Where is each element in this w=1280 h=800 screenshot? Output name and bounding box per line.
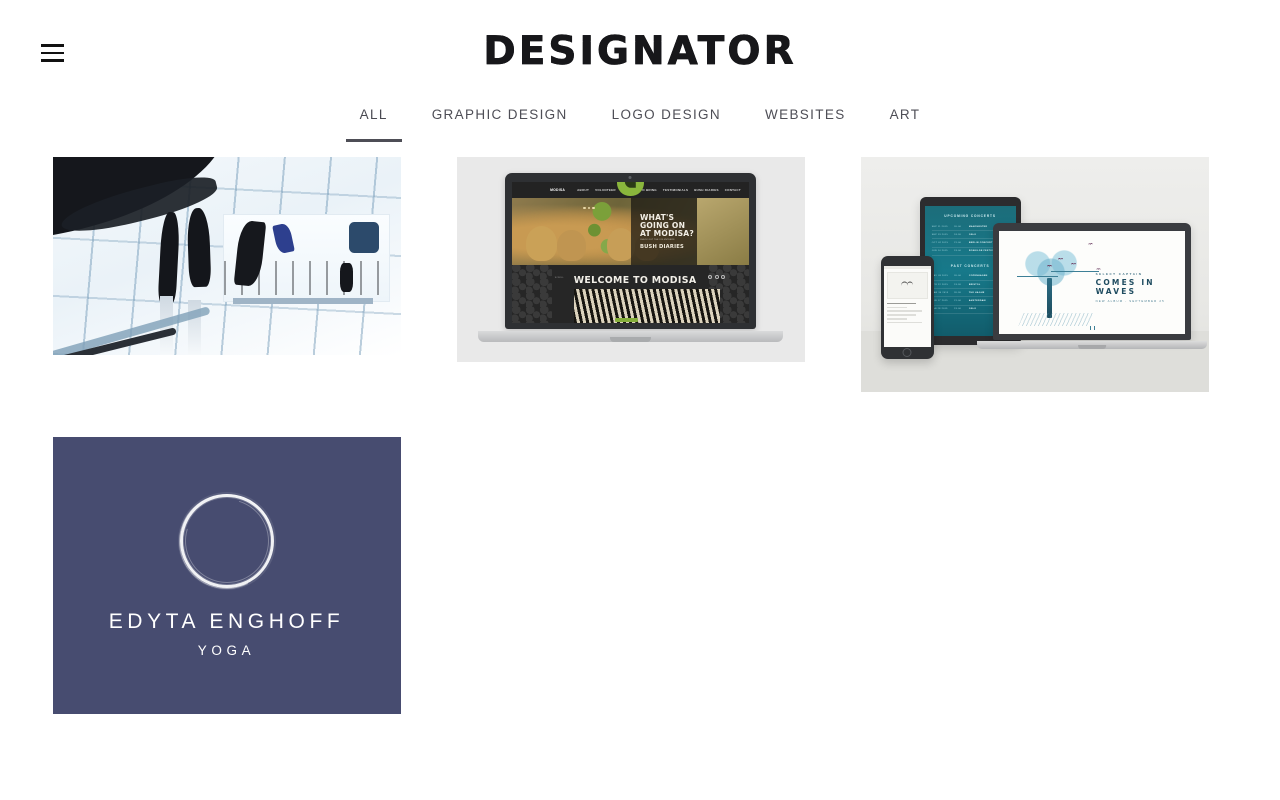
- concert-date: SEP 19 2015: [932, 234, 950, 236]
- brush-circle-icon: [180, 494, 274, 588]
- yoga-logo-artwork: EDYTA ENGHOFF YOGA: [53, 437, 401, 714]
- zebra-photo: [574, 289, 721, 324]
- tree-branch-left: [1017, 276, 1058, 277]
- phone-home-button: [903, 348, 912, 357]
- filter-tab-graphic-design[interactable]: GRAPHIC DESIGN: [410, 105, 590, 125]
- filter-tab-art[interactable]: ART: [868, 105, 943, 125]
- hero-side-image: [697, 198, 749, 266]
- phone-screen: [884, 266, 930, 347]
- leaf-icon: [625, 182, 635, 187]
- art-banner: [223, 214, 390, 301]
- banner-stand: [233, 298, 372, 304]
- portfolio-item-comes-in-waves[interactable]: UPCOMING CONCERTS SEP 11 2015 20:00 MANC…: [861, 157, 1209, 392]
- slider-dot-2: [588, 207, 591, 210]
- concert-time: 19:30: [954, 284, 965, 286]
- phone-album-art: [887, 272, 927, 299]
- concert-time: 20:00: [954, 275, 965, 277]
- lion-photo-1: [526, 226, 557, 261]
- banner-shape-navy: [349, 222, 379, 253]
- bird-icon-2: [1058, 258, 1063, 261]
- phone-status-bar: [884, 266, 930, 269]
- yoga-logo-name: EDYTA ENGHOFF: [109, 610, 345, 634]
- concert-time: 19:00: [954, 308, 965, 310]
- album-title: COMES IN WAVES: [1096, 278, 1185, 296]
- bird-icon: [901, 282, 913, 289]
- slider-dot-3: [592, 207, 595, 210]
- modisa-nav-brand: MODISA: [550, 188, 565, 192]
- modisa-hero-panel: WHAT'S GOING ON AT MODISA? CHECK OUT THE…: [631, 198, 697, 266]
- phone-text-line: [887, 322, 921, 324]
- portfolio-filter-nav: ALL GRAPHIC DESIGN LOGO DESIGN WEBSITES …: [0, 105, 1280, 150]
- modisa-nav-item-about: ABOUT: [577, 188, 589, 192]
- banner-flag-blue: [272, 223, 294, 255]
- site-logo-text: DESIGNATOR: [483, 30, 796, 74]
- social-icon-twitter: [715, 275, 719, 279]
- concert-date: JAN 28 2015: [932, 308, 950, 310]
- filter-tab-all[interactable]: ALL: [338, 105, 410, 125]
- modisa-nav-item-diaries: BUSH DIARIES: [694, 188, 719, 192]
- yoga-logo-tagline: YOGA: [198, 643, 255, 658]
- modisa-nav-item-contact: CONTACT: [725, 188, 741, 192]
- laptop-base-notch: [1078, 345, 1106, 349]
- portfolio-grid-row: EDYTA ENGHOFF YOGA: [53, 437, 1228, 714]
- portfolio-cell: [53, 157, 401, 392]
- bird-icon-5: [1096, 268, 1100, 270]
- laptop-lid: MODISA ABOUT VOLUNTEER THE BUSH TO BRING…: [505, 173, 756, 329]
- laptop-screen: MODISA ABOUT VOLUNTEER THE BUSH TO BRING…: [512, 182, 749, 323]
- filter-tab-websites[interactable]: WEBSITES: [743, 105, 868, 125]
- portfolio-item-modisa-website[interactable]: MODISA ABOUT VOLUNTEER THE BUSH TO BRING…: [457, 157, 805, 362]
- art-installation-artwork: [53, 157, 401, 355]
- concert-date: MAR 30 2015: [932, 292, 950, 294]
- album-release: NEW ALBUM - SEPTEMBER 25: [1096, 299, 1185, 303]
- modisa-hero-cta: BUSH DIARIES: [640, 244, 697, 250]
- album-text-block: SELECT CAPTAIN COMES IN WAVES NEW ALBUM …: [1096, 272, 1185, 303]
- modisa-nav-item-volunteer: VOLUNTEER: [595, 188, 616, 192]
- phone-text-line: [887, 310, 921, 312]
- lion-photo-2: [557, 230, 585, 261]
- portfolio-cell: UPCOMING CONCERTS SEP 11 2015 20:00 MANC…: [861, 157, 1209, 392]
- modisa-green-button: [615, 318, 638, 322]
- album-logo-mark: [1090, 326, 1095, 330]
- concert-date: MAY 09 2015: [932, 275, 950, 277]
- tree-branch-right: [1051, 271, 1099, 272]
- giraffe-pattern-left: [512, 265, 552, 323]
- slider-dot-1: [583, 207, 586, 210]
- modisa-hero-slider-dots: [583, 207, 595, 210]
- laptop-lid: SELECT CAPTAIN COMES IN WAVES NEW ALBUM …: [993, 223, 1191, 341]
- portfolio-item-edyta-enghoff-yoga[interactable]: EDYTA ENGHOFF YOGA: [53, 437, 401, 714]
- modisa-hero-section: WHAT'S GOING ON AT MODISA? CHECK OUT THE…: [512, 198, 749, 266]
- album-artist: SELECT CAPTAIN: [1096, 272, 1185, 276]
- portfolio-cell: MODISA ABOUT VOLUNTEER THE BUSH TO BRING…: [457, 157, 805, 392]
- bird-icon-3: [1071, 263, 1076, 266]
- concert-time: 20:30: [954, 292, 965, 294]
- portfolio-grid-row: MODISA ABOUT VOLUNTEER THE BUSH TO BRING…: [53, 157, 1228, 392]
- modisa-social-icons: [708, 275, 725, 279]
- tree-trunk: [1047, 278, 1052, 317]
- laptop-mockup: MODISA ABOUT VOLUNTEER THE BUSH TO BRING…: [505, 173, 756, 329]
- concert-date: APR 22 2015: [932, 284, 950, 286]
- concert-date: OCT 02 2015: [932, 242, 950, 244]
- bird-icon-1: [1088, 243, 1093, 246]
- concert-date: FEB 17 2015: [932, 300, 950, 302]
- laptop-screen: SELECT CAPTAIN COMES IN WAVES NEW ALBUM …: [999, 231, 1185, 335]
- modisa-hero-heading: WHAT'S GOING ON AT MODISA?: [640, 214, 697, 239]
- concert-time: 20:00: [954, 226, 965, 228]
- concert-date: SEP 11 2015: [932, 226, 950, 228]
- tablet-section-upcoming: UPCOMING CONCERTS: [932, 214, 1009, 218]
- site-logo[interactable]: DESIGNATOR: [0, 30, 1280, 74]
- bird-icon-4: [1047, 265, 1052, 268]
- portfolio-cell: EDYTA ENGHOFF YOGA: [53, 437, 401, 714]
- modisa-scroll-label: SCROLL: [555, 277, 564, 279]
- tree-ground-shadow: [1018, 313, 1094, 326]
- modisa-welcome-section: SCROLL WELCOME TO MODISA: [512, 265, 749, 323]
- laptop-base-notch: [610, 337, 650, 342]
- modisa-nav-item-testimonials: TESTIMONIALS: [663, 188, 688, 192]
- concert-time: 19:00: [954, 250, 965, 252]
- banner-shape-black: [340, 263, 353, 292]
- concert-time: 18:30: [954, 234, 965, 236]
- social-icon-facebook: [708, 275, 712, 279]
- site-header: DESIGNATOR: [0, 0, 1280, 105]
- phone-mockup: [881, 256, 933, 359]
- portfolio-item-art-installation[interactable]: [53, 157, 401, 355]
- modisa-welcome-heading: WELCOME TO MODISA: [574, 275, 697, 286]
- portfolio-cell-empty: [861, 437, 1209, 714]
- phone-text-line: [887, 318, 907, 320]
- social-icon-instagram: [721, 275, 725, 279]
- laptop-mockup: SELECT CAPTAIN COMES IN WAVES NEW ALBUM …: [993, 223, 1191, 341]
- laptop-webcam: [629, 176, 632, 179]
- modisa-hero-kicker: CHECK OUT THE VOLUNTEERS: [640, 239, 697, 241]
- concert-time: 21:00: [954, 242, 965, 244]
- phone-text-line: [887, 303, 915, 305]
- concert-date: JUN 14 2015: [932, 250, 950, 252]
- filter-tab-logo-design[interactable]: LOGO DESIGN: [590, 105, 743, 125]
- phone-text-line: [887, 307, 907, 309]
- portfolio-cell-empty: [457, 437, 805, 714]
- concert-time: 21:00: [954, 300, 965, 302]
- portfolio-grid: MODISA ABOUT VOLUNTEER THE BUSH TO BRING…: [53, 150, 1228, 714]
- phone-text-line: [887, 314, 915, 316]
